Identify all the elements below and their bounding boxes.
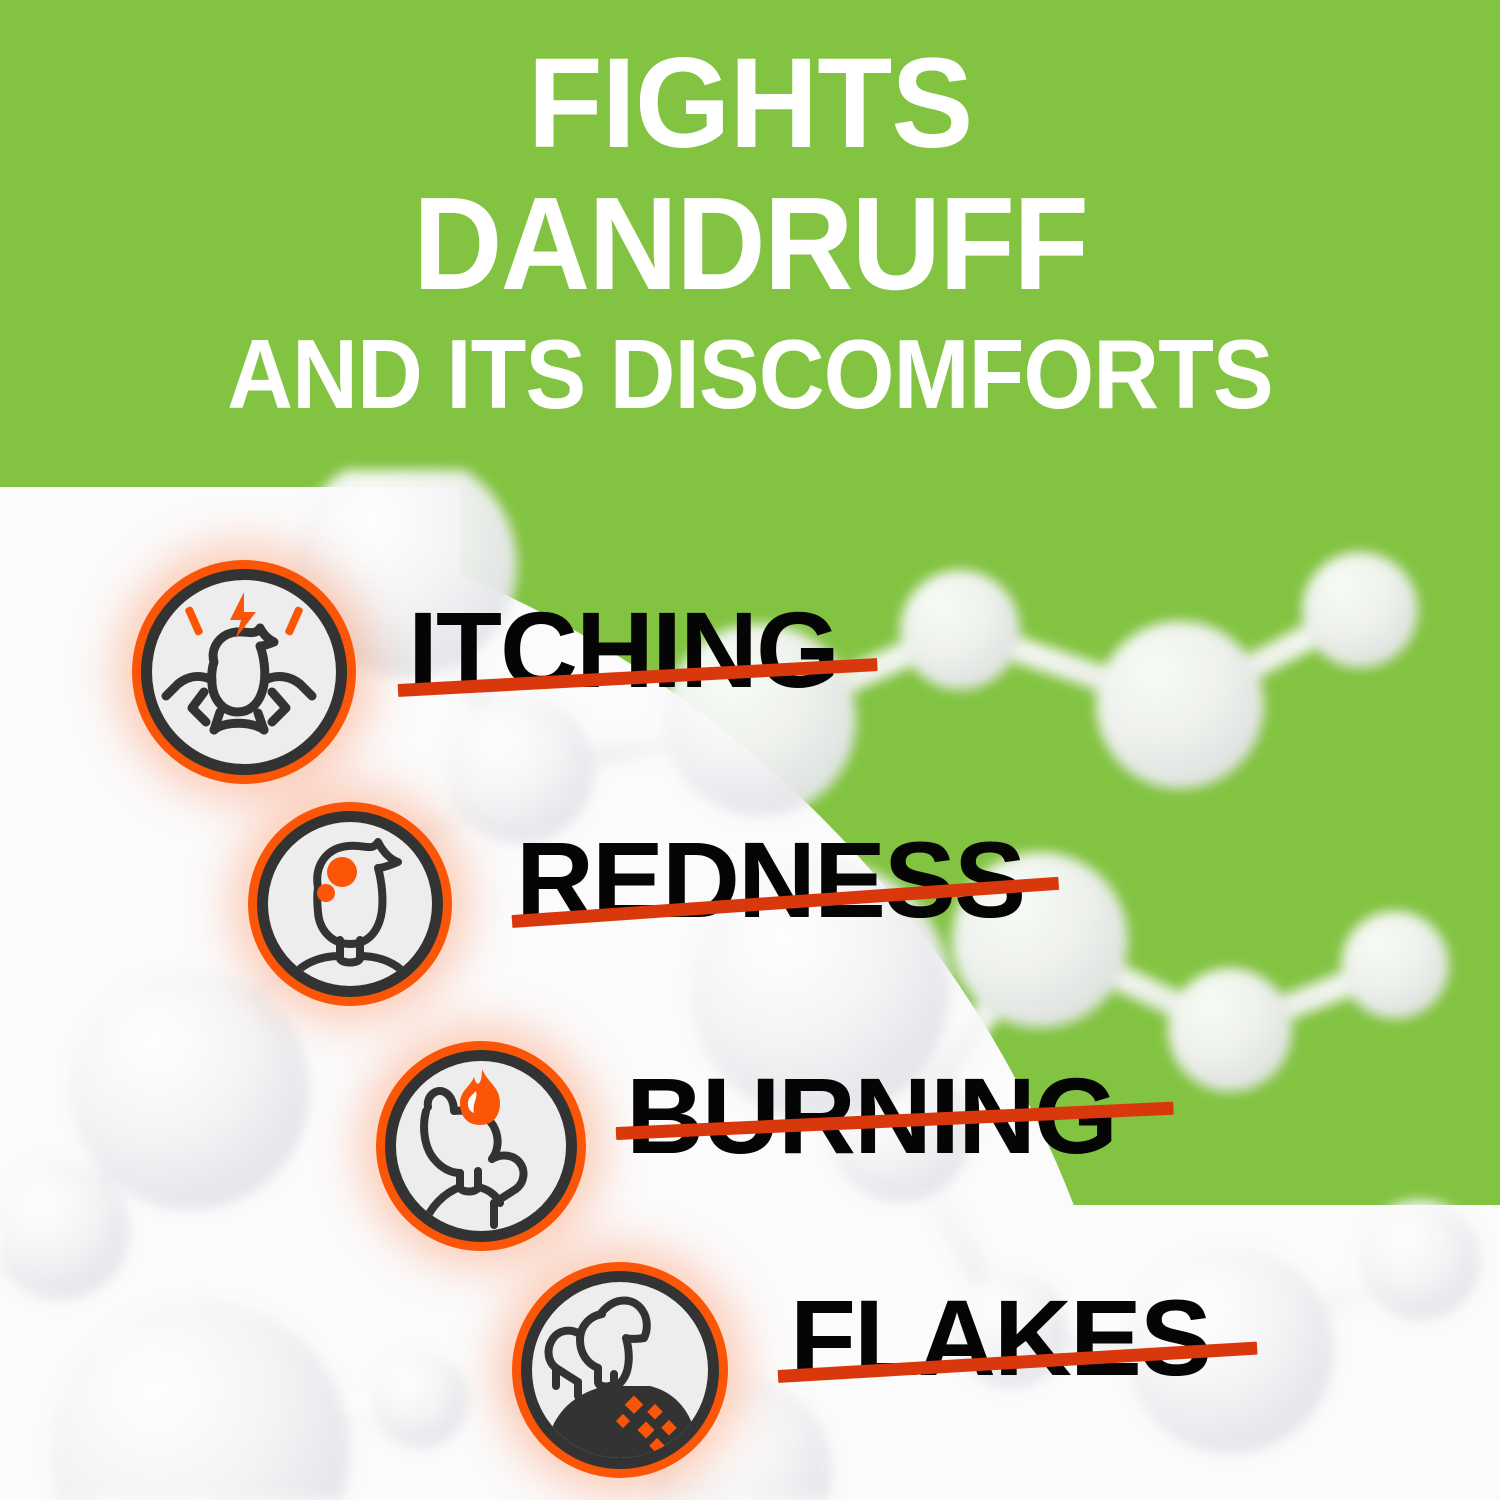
white-panel-bottom-fill	[0, 1205, 1500, 1500]
icon-disc	[152, 580, 336, 764]
poster-canvas: FIGHTS DANDRUFF AND ITS DISCOMFORTS	[0, 0, 1500, 1500]
shoulder-flakes-icon	[512, 1262, 728, 1478]
scalp-burning-flame-icon	[376, 1041, 586, 1251]
head-scratching-icon	[132, 560, 356, 784]
icon-disc	[396, 1061, 566, 1231]
icon-disc	[532, 1282, 708, 1458]
icon-disc	[268, 822, 432, 986]
scalp-redness-icon	[248, 802, 452, 1006]
